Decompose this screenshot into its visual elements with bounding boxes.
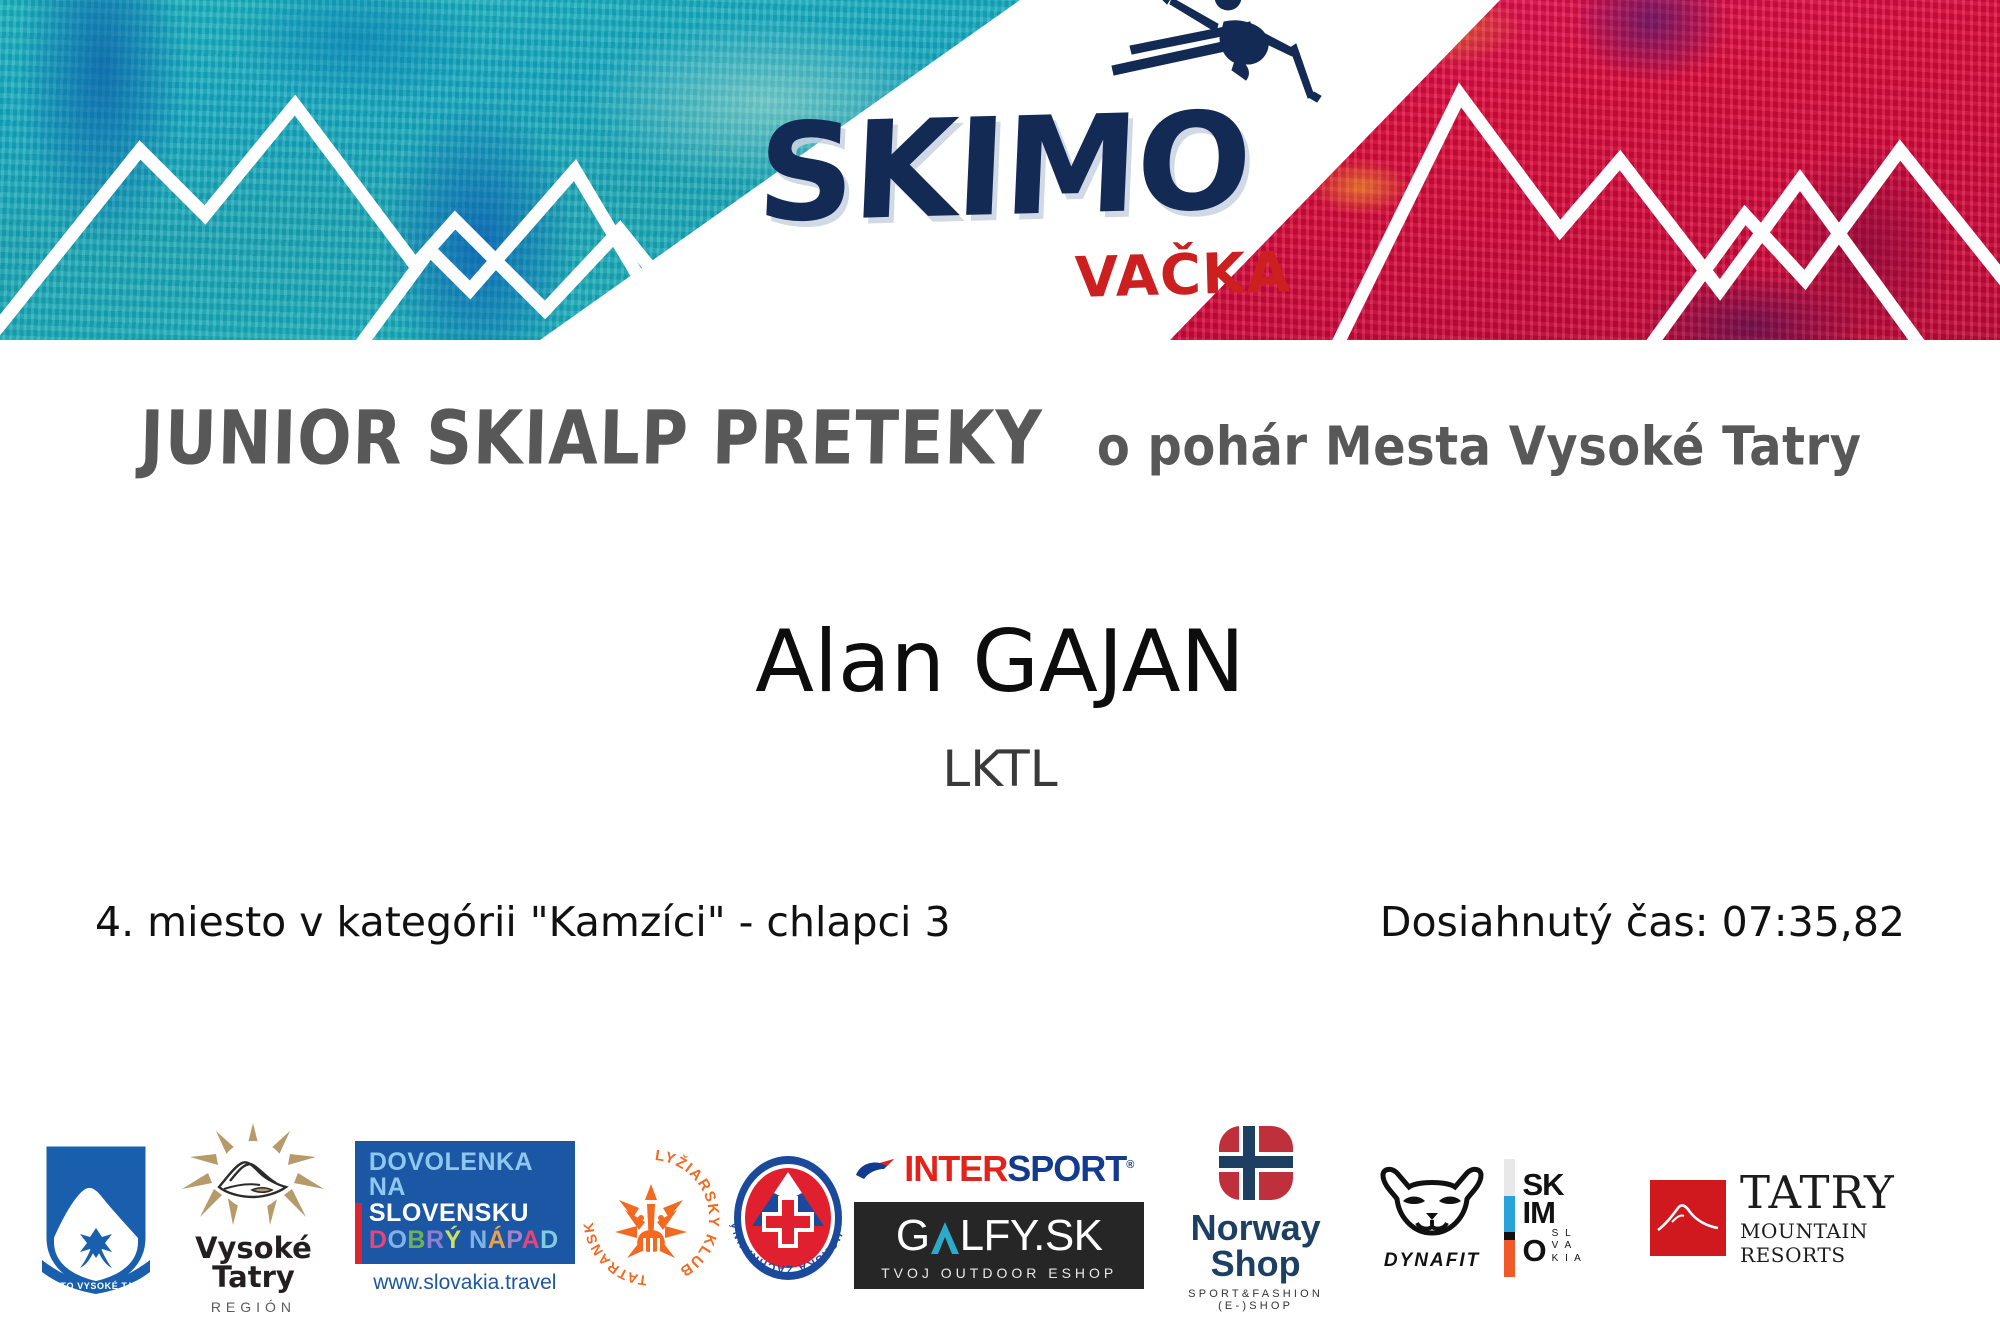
norway-shop-name: Norway Shop xyxy=(1151,1210,1361,1282)
sponsor-norway-shop[interactable]: Norway Shop SPORT&FASHION (E-)SHOP xyxy=(1151,1124,1361,1312)
page-subtitle: o pohár Mesta Vysoké Tatry xyxy=(1097,415,1862,478)
skimo-wordmark: SKIMO xyxy=(755,94,1253,242)
vacka-wordmark: VAČKA xyxy=(1074,245,1291,307)
svg-text:LYŽIARSKY KLUB: LYŽIARSKY KLUB xyxy=(654,1148,721,1280)
sponsor-skimo-slovakia[interactable]: SK IM O S L V A K I A xyxy=(1504,1159,1644,1277)
dynafit-name: DYNAFIT xyxy=(1367,1250,1497,1272)
galfy-logo[interactable]: GLFY.SK TVOJ OUTDOOR ESHOP xyxy=(854,1202,1144,1289)
slovakia-travel-url[interactable]: www.slovakia.travel xyxy=(355,1271,575,1295)
sponsor-intersport-galfy[interactable]: INTERSPORT® GLFY.SK TVOJ OUTDOOR ESHOP xyxy=(854,1148,1144,1289)
slovakia-travel-box: DOVOLENKA NA SLOVENSKU DOBRÝ NÁPAD xyxy=(355,1141,575,1264)
galfy-tagline: TVOJ OUTDOOR ESHOP xyxy=(858,1265,1140,1281)
tmr-mountain-icon xyxy=(1650,1180,1726,1256)
header-banner: SKIMO VAČKA xyxy=(0,0,2000,340)
athlete-club: LKTL xyxy=(0,740,2000,798)
sponsor-lyziarsky-klub[interactable]: LYŽIARSKY KLUB TATRANSKÁ LOMNICA xyxy=(581,1148,721,1288)
edelweiss-mountain-icon xyxy=(178,1121,328,1225)
certificate-page: SKIMO VAČKA JUNIOR SKIALP PRETEKY o pohá… xyxy=(0,0,2000,1334)
slovakia-travel-line2: SLOVENSKU xyxy=(369,1200,565,1226)
intersport-swoosh-icon xyxy=(854,1155,896,1183)
crest-label: MESTO VYSOKÉ TATRY xyxy=(39,1281,152,1291)
skimo-slovakia-color-bar-icon xyxy=(1504,1159,1515,1277)
page-title: JUNIOR SKIALP PRETEKY xyxy=(139,396,1043,482)
result-time: Dosiahnutý čas: 07:35,82 xyxy=(1380,898,1905,946)
sponsor-logo-strip: MESTO VYSOKÉ TATRY xyxy=(40,1118,1980,1318)
sponsor-slovakia-travel[interactable]: DOVOLENKA NA SLOVENSKU DOBRÝ NÁPAD www.s… xyxy=(355,1141,575,1295)
vysoke-tatry-sub: REGIÓN xyxy=(158,1299,348,1315)
tmr-name: TATRY xyxy=(1740,1170,1980,1215)
result-placement: 4. miesto v kategórii "Kamzíci" - chlapc… xyxy=(95,898,951,946)
galfy-name: GLFY.SK xyxy=(858,1214,1140,1258)
skimo-slovakia-sub1: S L xyxy=(1552,1228,1583,1241)
vysoke-tatry-name: Vysoké Tatry xyxy=(158,1234,348,1292)
result-row: 4. miesto v kategórii "Kamzíci" - chlapc… xyxy=(95,898,1905,946)
skimo-slovakia-sub3: K I A xyxy=(1552,1253,1583,1266)
intersport-registered-mark: ® xyxy=(1126,1159,1133,1171)
sponsor-vysoke-tatry-region[interactable]: Vysoké Tatry REGIÓN xyxy=(158,1121,348,1315)
slovakia-travel-line1: DOVOLENKA NA xyxy=(369,1150,565,1200)
skimo-slovakia-line2: IM xyxy=(1523,1199,1583,1228)
dynafit-leopard-icon xyxy=(1373,1165,1491,1243)
sponsor-horska-zachranna-sluzba[interactable]: HORSKÁ ZÁCHRANNÁ SLUŽBA xyxy=(728,1148,848,1288)
sponsor-mesto-vysoke-tatry[interactable]: MESTO VYSOKÉ TATRY xyxy=(40,1142,152,1294)
skimo-vacka-logo: SKIMO VAČKA xyxy=(740,0,1320,330)
slovakia-travel-line3: DOBRÝ NÁPAD xyxy=(369,1227,565,1253)
intersport-part1: INTER xyxy=(904,1148,1007,1189)
norway-shop-tagline: SPORT&FASHION (E-)SHOP xyxy=(1151,1288,1361,1312)
tmr-sub: MOUNTAIN RESORTS xyxy=(1740,1219,1980,1267)
galfy-peak-a-icon xyxy=(930,1220,960,1256)
sponsor-tatry-mountain-resorts[interactable]: TATRY MOUNTAIN RESORTS xyxy=(1650,1170,1980,1267)
intersport-part2: SPORT xyxy=(1007,1148,1126,1189)
event-title-row: JUNIOR SKIALP PRETEKY o pohár Mesta Vyso… xyxy=(0,408,2000,482)
athlete-name: Alan GAJAN xyxy=(0,612,2000,712)
mesto-vysoke-tatry-crest-icon: MESTO VYSOKÉ TATRY xyxy=(40,1142,152,1294)
horska-zachranna-sluzba-icon: HORSKÁ ZÁCHRANNÁ SLUŽBA xyxy=(728,1148,848,1288)
lyziarsky-klub-snowflake-icon: LYŽIARSKY KLUB TATRANSKÁ LOMNICA xyxy=(581,1148,721,1288)
skimo-slovakia-line3: O xyxy=(1523,1237,1546,1266)
intersport-logo[interactable]: INTERSPORT® xyxy=(854,1148,1144,1190)
norway-flag-icon xyxy=(1217,1124,1295,1202)
sponsor-dynafit[interactable]: DYNAFIT xyxy=(1367,1165,1497,1272)
skimo-slovakia-sub2: V A xyxy=(1552,1240,1583,1253)
